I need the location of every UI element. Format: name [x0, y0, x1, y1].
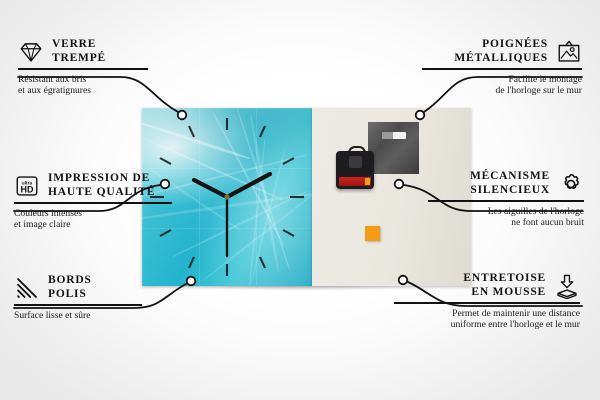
feature-desc-line2: de l'horloge sur le mur	[496, 85, 582, 96]
feature-title-line2: TREMPÉ	[52, 52, 106, 64]
feature-title: IMPRESSION DE HAUTE QUALITÉ	[48, 172, 155, 199]
feature-poignees-metalliques: POIGNÉES MÉTALLIQUES Facilite le montage…	[338, 38, 582, 97]
feature-description: Permet de maintenir une distance uniform…	[336, 308, 580, 331]
feature-title: VERRE TREMPÉ	[52, 38, 106, 65]
feature-bords-polis: BORDS POLIS Surface lisse et sûre	[14, 274, 258, 321]
feature-title-line2: MÉTALLIQUES	[454, 52, 548, 64]
feature-verre-trempe: VERRE TREMPÉ Résistant aux bris et aux é…	[18, 38, 262, 97]
feature-rule	[422, 68, 582, 70]
gear-icon	[558, 171, 584, 197]
feature-title: ENTRETOISE EN MOUSSE	[463, 272, 546, 299]
feature-mecanisme-silencieux: MÉCANISME SILENCIEUX Les aiguilles de l'…	[340, 170, 584, 229]
feature-rule	[14, 202, 172, 204]
feature-header: BORDS POLIS	[14, 274, 258, 301]
feature-title-line2: HAUTE QUALITÉ	[48, 186, 155, 198]
picture-hanger-icon	[556, 39, 582, 65]
feature-rule	[428, 200, 584, 202]
feature-description: Facilite le montage de l'horloge sur le …	[338, 74, 582, 97]
ultra-hd-icon-main-text: HD	[21, 184, 34, 194]
feature-desc-line2: et aux égratignures	[18, 85, 91, 96]
feature-description: Résistant aux bris et aux égratignures	[18, 74, 262, 97]
feature-title-line1: VERRE	[52, 38, 96, 50]
feature-header: MÉCANISME SILENCIEUX	[340, 170, 584, 197]
feature-desc-line2: uniforme entre l'horloge et le mur	[451, 319, 580, 330]
feature-desc-line1: Les aiguilles de l'horloge	[488, 206, 584, 217]
feature-title-line2: EN MOUSSE	[471, 286, 546, 298]
feature-title-line1: ENTRETOISE	[463, 272, 546, 284]
ultra-hd-icon: ultra HD	[14, 173, 40, 199]
feature-desc-line1: Résistant aux bris	[18, 74, 86, 85]
feature-title-line2: SILENCIEUX	[470, 184, 550, 196]
feature-desc-line2: ne font aucun bruit	[511, 217, 584, 228]
feature-title: MÉCANISME SILENCIEUX	[470, 170, 550, 197]
feature-title-line2: POLIS	[48, 288, 87, 300]
feature-entretoise-en-mousse: ENTRETOISE EN MOUSSE Permet de maintenir…	[336, 272, 580, 331]
feature-desc-line1: Surface lisse et sûre	[14, 310, 90, 321]
feature-desc-line1: Couleurs intenses	[14, 208, 82, 219]
feature-header: ENTRETOISE EN MOUSSE	[336, 272, 580, 299]
feature-title: BORDS POLIS	[48, 274, 92, 301]
feature-title-line1: MÉCANISME	[470, 170, 550, 182]
feature-title-line1: BORDS	[48, 274, 92, 286]
feature-rule	[14, 304, 142, 306]
foam-spacer-icon	[554, 273, 580, 299]
feature-title-line1: POIGNÉES	[482, 38, 548, 50]
feature-title: POIGNÉES MÉTALLIQUES	[454, 38, 548, 65]
feature-header: POIGNÉES MÉTALLIQUES	[338, 38, 582, 65]
feature-desc-line1: Facilite le montage	[508, 74, 582, 85]
infographic-canvas: VERRE TREMPÉ Résistant aux bris et aux é…	[0, 0, 600, 400]
feature-rule	[394, 302, 580, 304]
feature-header: ultra HD IMPRESSION DE HAUTE QUALITÉ	[14, 172, 258, 199]
feature-desc-line1: Permet de maintenir une distance	[452, 308, 580, 319]
diamond-icon	[18, 39, 44, 65]
feature-description: Les aiguilles de l'horloge ne font aucun…	[340, 206, 584, 229]
feature-title-line1: IMPRESSION DE	[48, 172, 150, 184]
feature-header: VERRE TREMPÉ	[18, 38, 262, 65]
feature-description: Couleurs intenses et image claire	[14, 208, 258, 231]
feature-rule	[18, 68, 148, 70]
polished-edge-icon	[14, 275, 40, 301]
feature-desc-line2: et image claire	[14, 219, 70, 230]
feature-description: Surface lisse et sûre	[14, 310, 258, 322]
feature-impression-haute-qualite: ultra HD IMPRESSION DE HAUTE QUALITÉ Cou…	[14, 172, 258, 231]
